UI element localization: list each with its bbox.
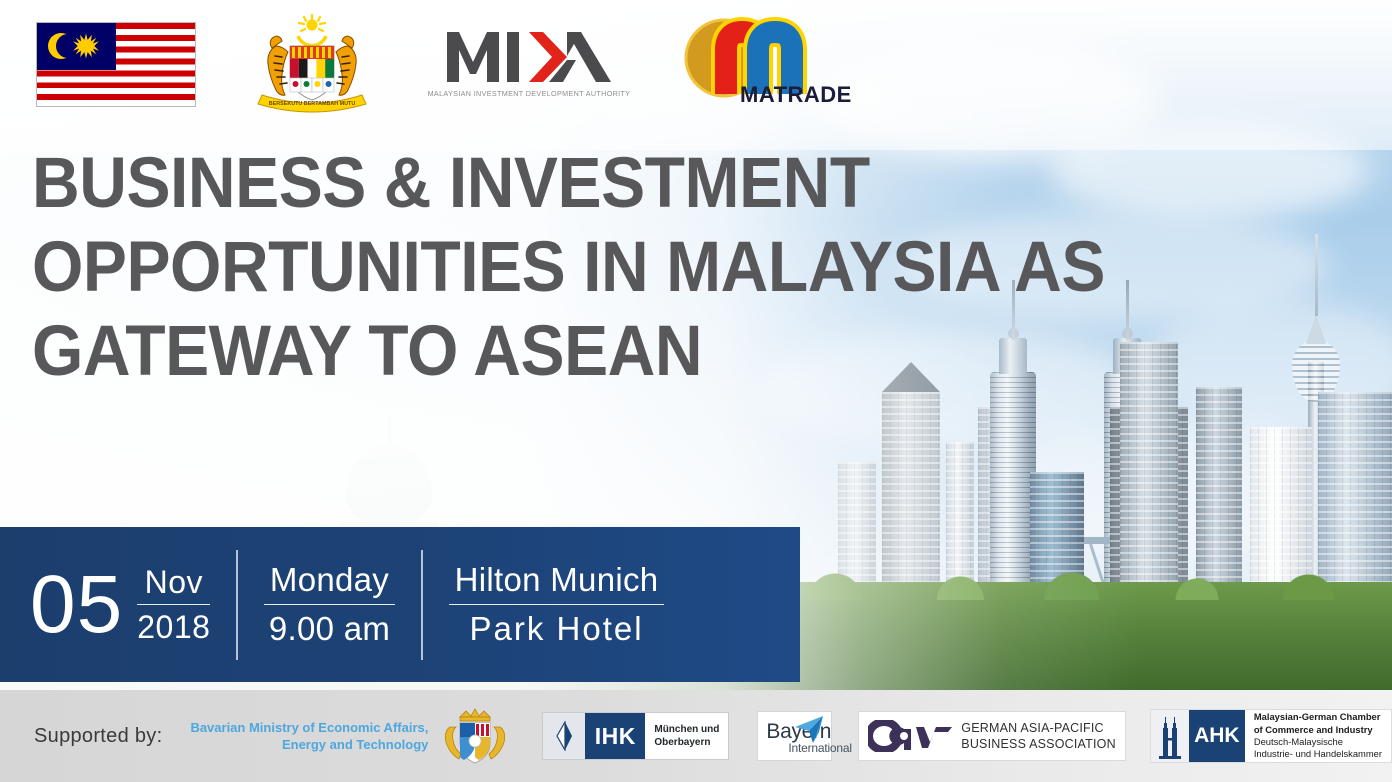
mida-logo: MALAYSIAN INVESTMENT DEVELOPMENT AUTHORI… <box>424 30 634 98</box>
ahk-wordmark: AHK <box>1189 710 1245 762</box>
organiser-logo-strip: BERSEKUTU BERTAMBAH MUTU <box>0 0 1392 128</box>
title-line-1: BUSINESS & INVESTMENT <box>32 142 1055 226</box>
ahk-chamber-text: Malaysian-German Chamber of Commerce and… <box>1245 711 1391 761</box>
event-time: 9.00 am <box>264 605 395 649</box>
event-year: 2018 <box>137 605 210 646</box>
fourteen-point-star-icon <box>73 33 99 59</box>
event-month: Nov <box>137 563 210 605</box>
malaysia-flag <box>36 22 196 107</box>
ihk-diamond-icon <box>543 713 585 759</box>
mida-wordmark-icon <box>424 30 634 84</box>
event-banner: BERSEKUTU BERTAMBAH MUTU <box>0 0 1392 782</box>
mida-subtitle: MALAYSIAN INVESTMENT DEVELOPMENT AUTHORI… <box>424 89 634 98</box>
bavarian-coat-of-arms-icon <box>438 707 512 765</box>
event-date-group: 05 Nov 2018 <box>0 563 210 646</box>
title-line-2: OPPORTUNITIES IN MALAYSIA AS <box>32 226 1055 310</box>
event-month-year-group: Nov 2018 <box>137 563 210 646</box>
ihk-wordmark: IHK <box>585 713 645 759</box>
bavarian-ministry-line-1: Bavarian Ministry of Economic Affairs, <box>190 719 428 736</box>
matrade-logo-slot: MATRADE <box>678 16 838 112</box>
ihk-region-text: München und Oberbayern <box>645 713 728 759</box>
event-venue-line-1: Hilton Munich <box>449 560 665 605</box>
oav-tagline: GERMAN ASIA-PACIFIC BUSINESS ASSOCIATION <box>961 720 1116 752</box>
event-weekday: Monday <box>264 560 395 605</box>
divider <box>421 550 423 660</box>
supported-by-label: Supported by: <box>34 725 162 748</box>
mida-logo-slot: MALAYSIAN INVESTMENT DEVELOPMENT AUTHORI… <box>424 30 634 98</box>
bavarian-ministry-logo: Bavarian Ministry of Economic Affairs, E… <box>190 707 512 765</box>
coat-motto: BERSEKUTU BERTAMBAH MUTU <box>269 101 356 107</box>
title-line-3: GATEWAY TO ASEAN <box>32 310 1055 394</box>
crescent-icon <box>48 33 74 59</box>
matrade-wordmark: MATRADE <box>740 82 852 108</box>
event-time-group: Monday 9.00 am <box>264 560 395 649</box>
event-venue-group: Hilton Munich Park Hotel <box>449 560 665 649</box>
ahk-logo: AHK Malaysian-German Chamber of Commerce… <box>1150 709 1392 763</box>
event-venue-line-2: Park Hotel <box>449 605 665 649</box>
matrade-logo: MATRADE <box>678 16 838 112</box>
ihk-region-line-2: Oberbayern <box>654 736 719 749</box>
bayern-kite-icon <box>789 715 825 750</box>
divider <box>236 550 238 660</box>
page-title: BUSINESS & INVESTMENT OPPORTUNITIES IN M… <box>32 142 1132 394</box>
ihk-logo: IHK München und Oberbayern <box>542 712 729 760</box>
ahk-line-3: Deutsch-Malaysische <box>1254 736 1382 748</box>
petronas-towers-icon <box>1151 710 1189 762</box>
malaysia-coat-of-arms-slot: BERSEKUTU BERTAMBAH MUTU <box>246 12 378 116</box>
ahk-line-4: Industrie- und Handelskammer <box>1254 748 1382 760</box>
ahk-line-2: of Commerce and Industry <box>1254 724 1382 736</box>
bavarian-ministry-line-2: Energy and Technology <box>190 736 428 753</box>
malaysia-flag-slot <box>0 22 196 107</box>
ihk-region-line-1: München und <box>654 723 719 736</box>
event-details-bar: 05 Nov 2018 Monday 9.00 am Hilton Munich… <box>0 527 800 682</box>
supporters-footer: Supported by: Bavarian Ministry of Econo… <box>0 690 1392 782</box>
event-day: 05 <box>30 564 123 646</box>
bavarian-ministry-text: Bavarian Ministry of Economic Affairs, E… <box>190 719 428 753</box>
ahk-line-1: Malaysian-German Chamber <box>1254 711 1382 723</box>
malaysia-coat-of-arms: BERSEKUTU BERTAMBAH MUTU <box>246 12 378 116</box>
ahk-mark: AHK <box>1151 710 1245 762</box>
oav-tagline-line-2: BUSINESS ASSOCIATION <box>961 736 1116 752</box>
oav-wordmark-icon <box>868 720 954 752</box>
bayern-international-logo: Bayern International <box>757 711 832 761</box>
oav-tagline-line-1: GERMAN ASIA-PACIFIC <box>961 720 1116 736</box>
oav-logo: GERMAN ASIA-PACIFIC BUSINESS ASSOCIATION <box>858 711 1126 761</box>
